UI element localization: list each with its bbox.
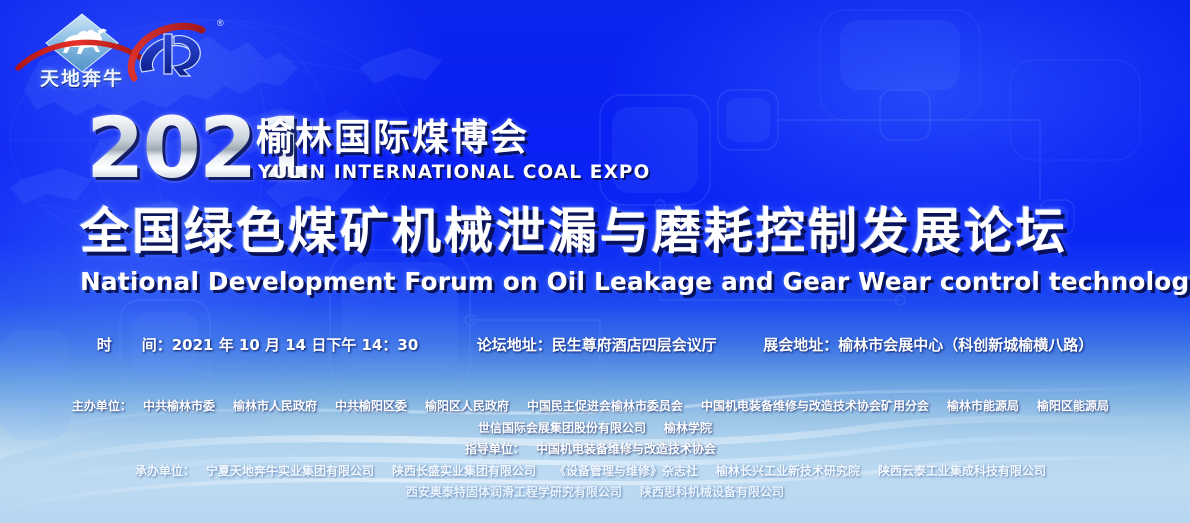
forum-venue-value: 民生尊府酒店四层会议厅: [552, 336, 717, 354]
expo-name-cn: 榆林国际煤博会: [256, 118, 529, 158]
expo-venue-label: 展会地址：: [763, 336, 838, 354]
expo-venue-info: 展会地址：榆林市会展中心（科创新城榆横八路）: [763, 334, 1093, 355]
registered-trademark-icon: ®: [217, 18, 224, 28]
organizer-item: 陕西思科机械设备有限公司: [640, 485, 784, 499]
organizer-item: 中共榆林市委: [143, 399, 215, 413]
guide-row: 指导单位：中国机电装备维修与改造技术协会: [0, 439, 1190, 461]
forum-venue-label: 论坛地址：: [477, 336, 552, 354]
organizer-label: 承办单位：: [135, 464, 195, 478]
brand-logo[interactable]: 天地奔牛 ®: [14, 6, 244, 98]
forum-title-en: National Development Forum on Oil Leakag…: [80, 268, 1149, 296]
host-items: 中共榆林市委榆林市人民政府中共榆阳区委榆阳区人民政府中国民主促进会榆林市委员会中…: [134, 399, 1118, 413]
organizer-item: 陕西长盛实业集团有限公司: [392, 464, 536, 478]
logo-brand-text: 天地奔牛: [30, 64, 134, 91]
organizer-item: 中国机电装备维修与改造技术协会矿用分会: [701, 399, 929, 413]
coal-expo-banner: 天地奔牛 ® 2021 榆林国际煤博会 YULIN INTERNATIONAL …: [0, 0, 1190, 523]
year-and-expo-row: 2021 榆林国际煤博会 YULIN INTERNATIONAL COAL EX…: [86, 112, 1190, 192]
forum-title-cn: 全国绿色煤矿机械泄漏与磨耗控制发展论坛: [80, 204, 1140, 260]
organizer-item: 榆林学院: [664, 421, 712, 435]
organizer-items-line2: 西安奥泰特固体润滑工程学研究有限公司陕西思科机械设备有限公司: [397, 485, 793, 499]
organizer-item: 西安奥泰特固体润滑工程学研究有限公司: [406, 485, 622, 499]
organizer-item: 中共榆阳区委: [335, 399, 407, 413]
organizer-item: 榆林市能源局: [947, 399, 1019, 413]
forum-venue-info: 论坛地址：民生尊府酒店四层会议厅: [477, 334, 717, 355]
expo-venue-value: 榆林市会展中心（科创新城榆横八路）: [838, 336, 1093, 354]
organizer-item: 宁夏天地奔牛实业集团有限公司: [206, 464, 374, 478]
guide-label: 指导单位：: [465, 442, 525, 456]
headline-block: 2021 榆林国际煤博会 YULIN INTERNATIONAL COAL EX…: [0, 112, 1190, 192]
organizers-block: 主办单位：中共榆林市委榆林市人民政府中共榆阳区委榆阳区人民政府中国民主促进会榆林…: [0, 396, 1190, 504]
organizer-item: 世信国际会展集团股份有限公司: [478, 421, 646, 435]
organizer-item: 榆阳区能源局: [1037, 399, 1109, 413]
time-info: 时 间：2021 年 10 月 14 日下午 14：30: [97, 334, 419, 355]
organizer-item: 中国机电装备维修与改造技术协会: [536, 442, 716, 456]
expo-name-en: YULIN INTERNATIONAL COAL EXPO: [258, 162, 650, 182]
organizer-item: 陕西云泰工业集成科技有限公司: [878, 464, 1046, 478]
organizer-item: 榆林市人民政府: [233, 399, 317, 413]
organizer-row-1: 承办单位：宁夏天地奔牛实业集团有限公司陕西长盛实业集团有限公司《设备管理与维修》…: [0, 461, 1190, 483]
organizer-item: 榆林长兴工业新技术研究院: [716, 464, 860, 478]
organizer-item: 中国民主促进会榆林市委员会: [527, 399, 683, 413]
host-row-2: 世信国际会展集团股份有限公司榆林学院: [0, 418, 1190, 440]
organizer-row-2: 西安奥泰特固体润滑工程学研究有限公司陕西思科机械设备有限公司: [0, 482, 1190, 504]
time-value: 2021 年 10 月 14 日下午 14：30: [172, 336, 419, 354]
organizer-items: 宁夏天地奔牛实业集团有限公司陕西长盛实业集团有限公司《设备管理与维修》杂志社榆林…: [197, 464, 1055, 478]
host-label: 主办单位：: [72, 399, 132, 413]
host-row-1: 主办单位：中共榆林市委榆林市人民政府中共榆阳区委榆阳区人民政府中国民主促进会榆林…: [0, 396, 1190, 418]
time-label: 时 间：: [97, 336, 172, 354]
host-items-line2: 世信国际会展集团股份有限公司榆林学院: [469, 421, 721, 435]
guide-items: 中国机电装备维修与改造技术协会: [527, 442, 725, 456]
organizer-item: 榆阳区人民政府: [425, 399, 509, 413]
organizer-item: 《设备管理与维修》杂志社: [554, 464, 698, 478]
event-info-line: 时 间：2021 年 10 月 14 日下午 14：30 论坛地址：民生尊府酒店…: [0, 334, 1190, 355]
